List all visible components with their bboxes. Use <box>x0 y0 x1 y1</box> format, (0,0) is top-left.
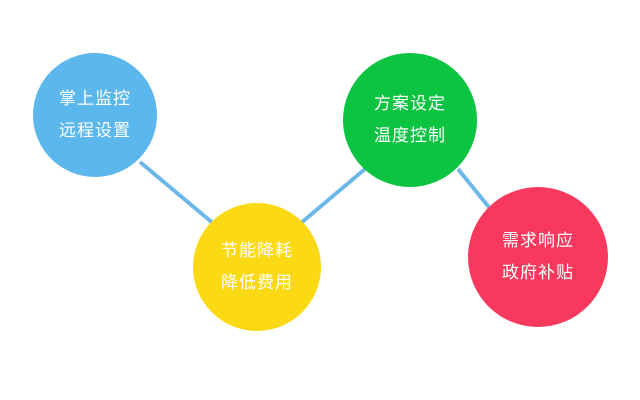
node-energy-saving-line2: 降低费用 <box>221 267 293 299</box>
connector-energy-saving-to-scheme <box>301 169 365 223</box>
connector-scheme-to-demand-response <box>458 169 492 211</box>
diagram-canvas: 掌上监控 远程设置 节能降耗 降低费用 方案设定 温度控制 需求响应 政府补贴 <box>0 0 640 400</box>
node-scheme-line2: 温度控制 <box>374 120 446 152</box>
node-monitoring-line1: 掌上监控 <box>59 83 131 115</box>
node-energy-saving[interactable]: 节能降耗 降低费用 <box>193 203 321 331</box>
node-scheme-line1: 方案设定 <box>374 88 446 120</box>
node-monitoring-line2: 远程设置 <box>59 115 131 147</box>
node-demand-response-line2: 政府补贴 <box>502 257 574 289</box>
node-demand-response[interactable]: 需求响应 政府补贴 <box>468 187 608 327</box>
node-demand-response-line1: 需求响应 <box>502 225 574 257</box>
connector-monitoring-to-energy-saving <box>140 162 214 224</box>
node-scheme[interactable]: 方案设定 温度控制 <box>343 53 477 187</box>
node-energy-saving-line1: 节能降耗 <box>221 235 293 267</box>
node-monitoring[interactable]: 掌上监控 远程设置 <box>33 53 157 177</box>
